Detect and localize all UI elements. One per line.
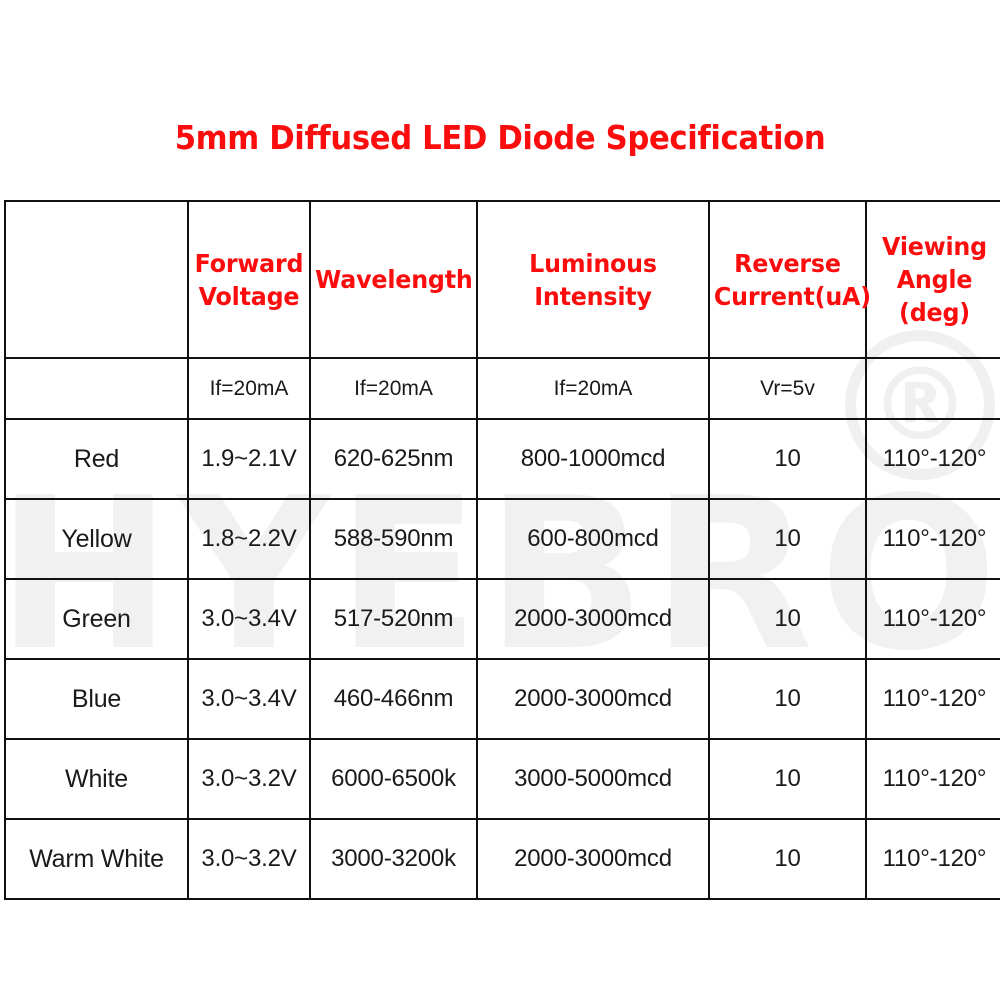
cell-forward-voltage: 3.0~3.2V xyxy=(188,819,310,899)
cell-reverse-current: 10 xyxy=(709,499,866,579)
cell-viewing-angle: 110°-120° xyxy=(866,739,1000,819)
cell-color: Warm White xyxy=(5,819,188,899)
cell-viewing-angle: 110°-120° xyxy=(866,579,1000,659)
header-line: (deg) xyxy=(870,296,998,329)
cell-viewing-angle: 110°-120° xyxy=(866,659,1000,739)
cell-viewing-angle: 110°-120° xyxy=(866,819,1000,899)
cell-viewing-angle: 110°-120° xyxy=(866,419,1000,499)
header-cell-forward-voltage: Forward Voltage xyxy=(188,201,310,358)
table-row: Green 3.0~3.4V 517-520nm 2000-3000mcd 10… xyxy=(5,579,1000,659)
table-row: Yellow 1.8~2.2V 588-590nm 600-800mcd 10 … xyxy=(5,499,1000,579)
cell-color: Green xyxy=(5,579,188,659)
header-line: Forward xyxy=(192,247,306,280)
cell-luminous-intensity: 800-1000mcd xyxy=(477,419,709,499)
cell-luminous-intensity: 2000-3000mcd xyxy=(477,659,709,739)
cell-wavelength: 460-466nm xyxy=(310,659,477,739)
cell-color: White xyxy=(5,739,188,819)
cell-reverse-current: 10 xyxy=(709,579,866,659)
cell-luminous-intensity: 2000-3000mcd xyxy=(477,579,709,659)
cell-wavelength: 3000-3200k xyxy=(310,819,477,899)
cell-reverse-current: 10 xyxy=(709,419,866,499)
table-row: White 3.0~3.2V 6000-6500k 3000-5000mcd 1… xyxy=(5,739,1000,819)
cell-forward-voltage: 3.0~3.4V xyxy=(188,659,310,739)
cell-wavelength: 6000-6500k xyxy=(310,739,477,819)
header-line: Luminous xyxy=(484,247,703,280)
cell-reverse-current: 10 xyxy=(709,819,866,899)
cell-reverse-current: 10 xyxy=(709,659,866,739)
cell-forward-voltage: 1.9~2.1V xyxy=(188,419,310,499)
header-cell-luminous-intensity: Luminous Intensity xyxy=(477,201,709,358)
condition-cell-wavelength: If=20mA xyxy=(310,358,477,419)
table-row: Warm White 3.0~3.2V 3000-3200k 2000-3000… xyxy=(5,819,1000,899)
header-line: Viewing xyxy=(870,230,998,263)
condition-cell-viewing-angle xyxy=(866,358,1000,419)
header-cell-viewing-angle: Viewing Angle (deg) xyxy=(866,201,1000,358)
cell-forward-voltage: 3.0~3.2V xyxy=(188,739,310,819)
cell-viewing-angle: 110°-120° xyxy=(866,499,1000,579)
condition-cell-forward-voltage: If=20mA xyxy=(188,358,310,419)
cell-wavelength: 588-590nm xyxy=(310,499,477,579)
cell-reverse-current: 10 xyxy=(709,739,866,819)
header-cell-reverse-current: Reverse Current(uA) xyxy=(709,201,866,358)
cell-wavelength: 517-520nm xyxy=(310,579,477,659)
cell-luminous-intensity: 600-800mcd xyxy=(477,499,709,579)
cell-luminous-intensity: 3000-5000mcd xyxy=(477,739,709,819)
header-line: Angle xyxy=(870,263,998,296)
cell-color: Yellow xyxy=(5,499,188,579)
cell-wavelength: 620-625nm xyxy=(310,419,477,499)
table-row: Blue 3.0~3.4V 460-466nm 2000-3000mcd 10 … xyxy=(5,659,1000,739)
table-header-row: Forward Voltage Wavelength Luminous Inte… xyxy=(5,201,1000,358)
cell-color: Blue xyxy=(5,659,188,739)
header-line: Intensity xyxy=(484,280,703,313)
header-line: Wavelength xyxy=(315,263,472,296)
header-line: Current(uA) xyxy=(714,280,861,313)
cell-forward-voltage: 1.8~2.2V xyxy=(188,499,310,579)
condition-cell-luminous-intensity: If=20mA xyxy=(477,358,709,419)
header-cell-wavelength: Wavelength xyxy=(310,201,477,358)
condition-cell-color xyxy=(5,358,188,419)
header-line: Voltage xyxy=(192,280,306,313)
table-row: Red 1.9~2.1V 620-625nm 800-1000mcd 10 11… xyxy=(5,419,1000,499)
table-condition-row: If=20mA If=20mA If=20mA Vr=5v xyxy=(5,358,1000,419)
condition-cell-reverse-current: Vr=5v xyxy=(709,358,866,419)
page-title: 5mm Diffused LED Diode Specification xyxy=(35,118,965,157)
cell-luminous-intensity: 2000-3000mcd xyxy=(477,819,709,899)
header-line: Reverse xyxy=(714,247,861,280)
led-specification-table: Forward Voltage Wavelength Luminous Inte… xyxy=(4,200,1000,900)
header-cell-color xyxy=(5,201,188,358)
cell-color: Red xyxy=(5,419,188,499)
cell-forward-voltage: 3.0~3.4V xyxy=(188,579,310,659)
